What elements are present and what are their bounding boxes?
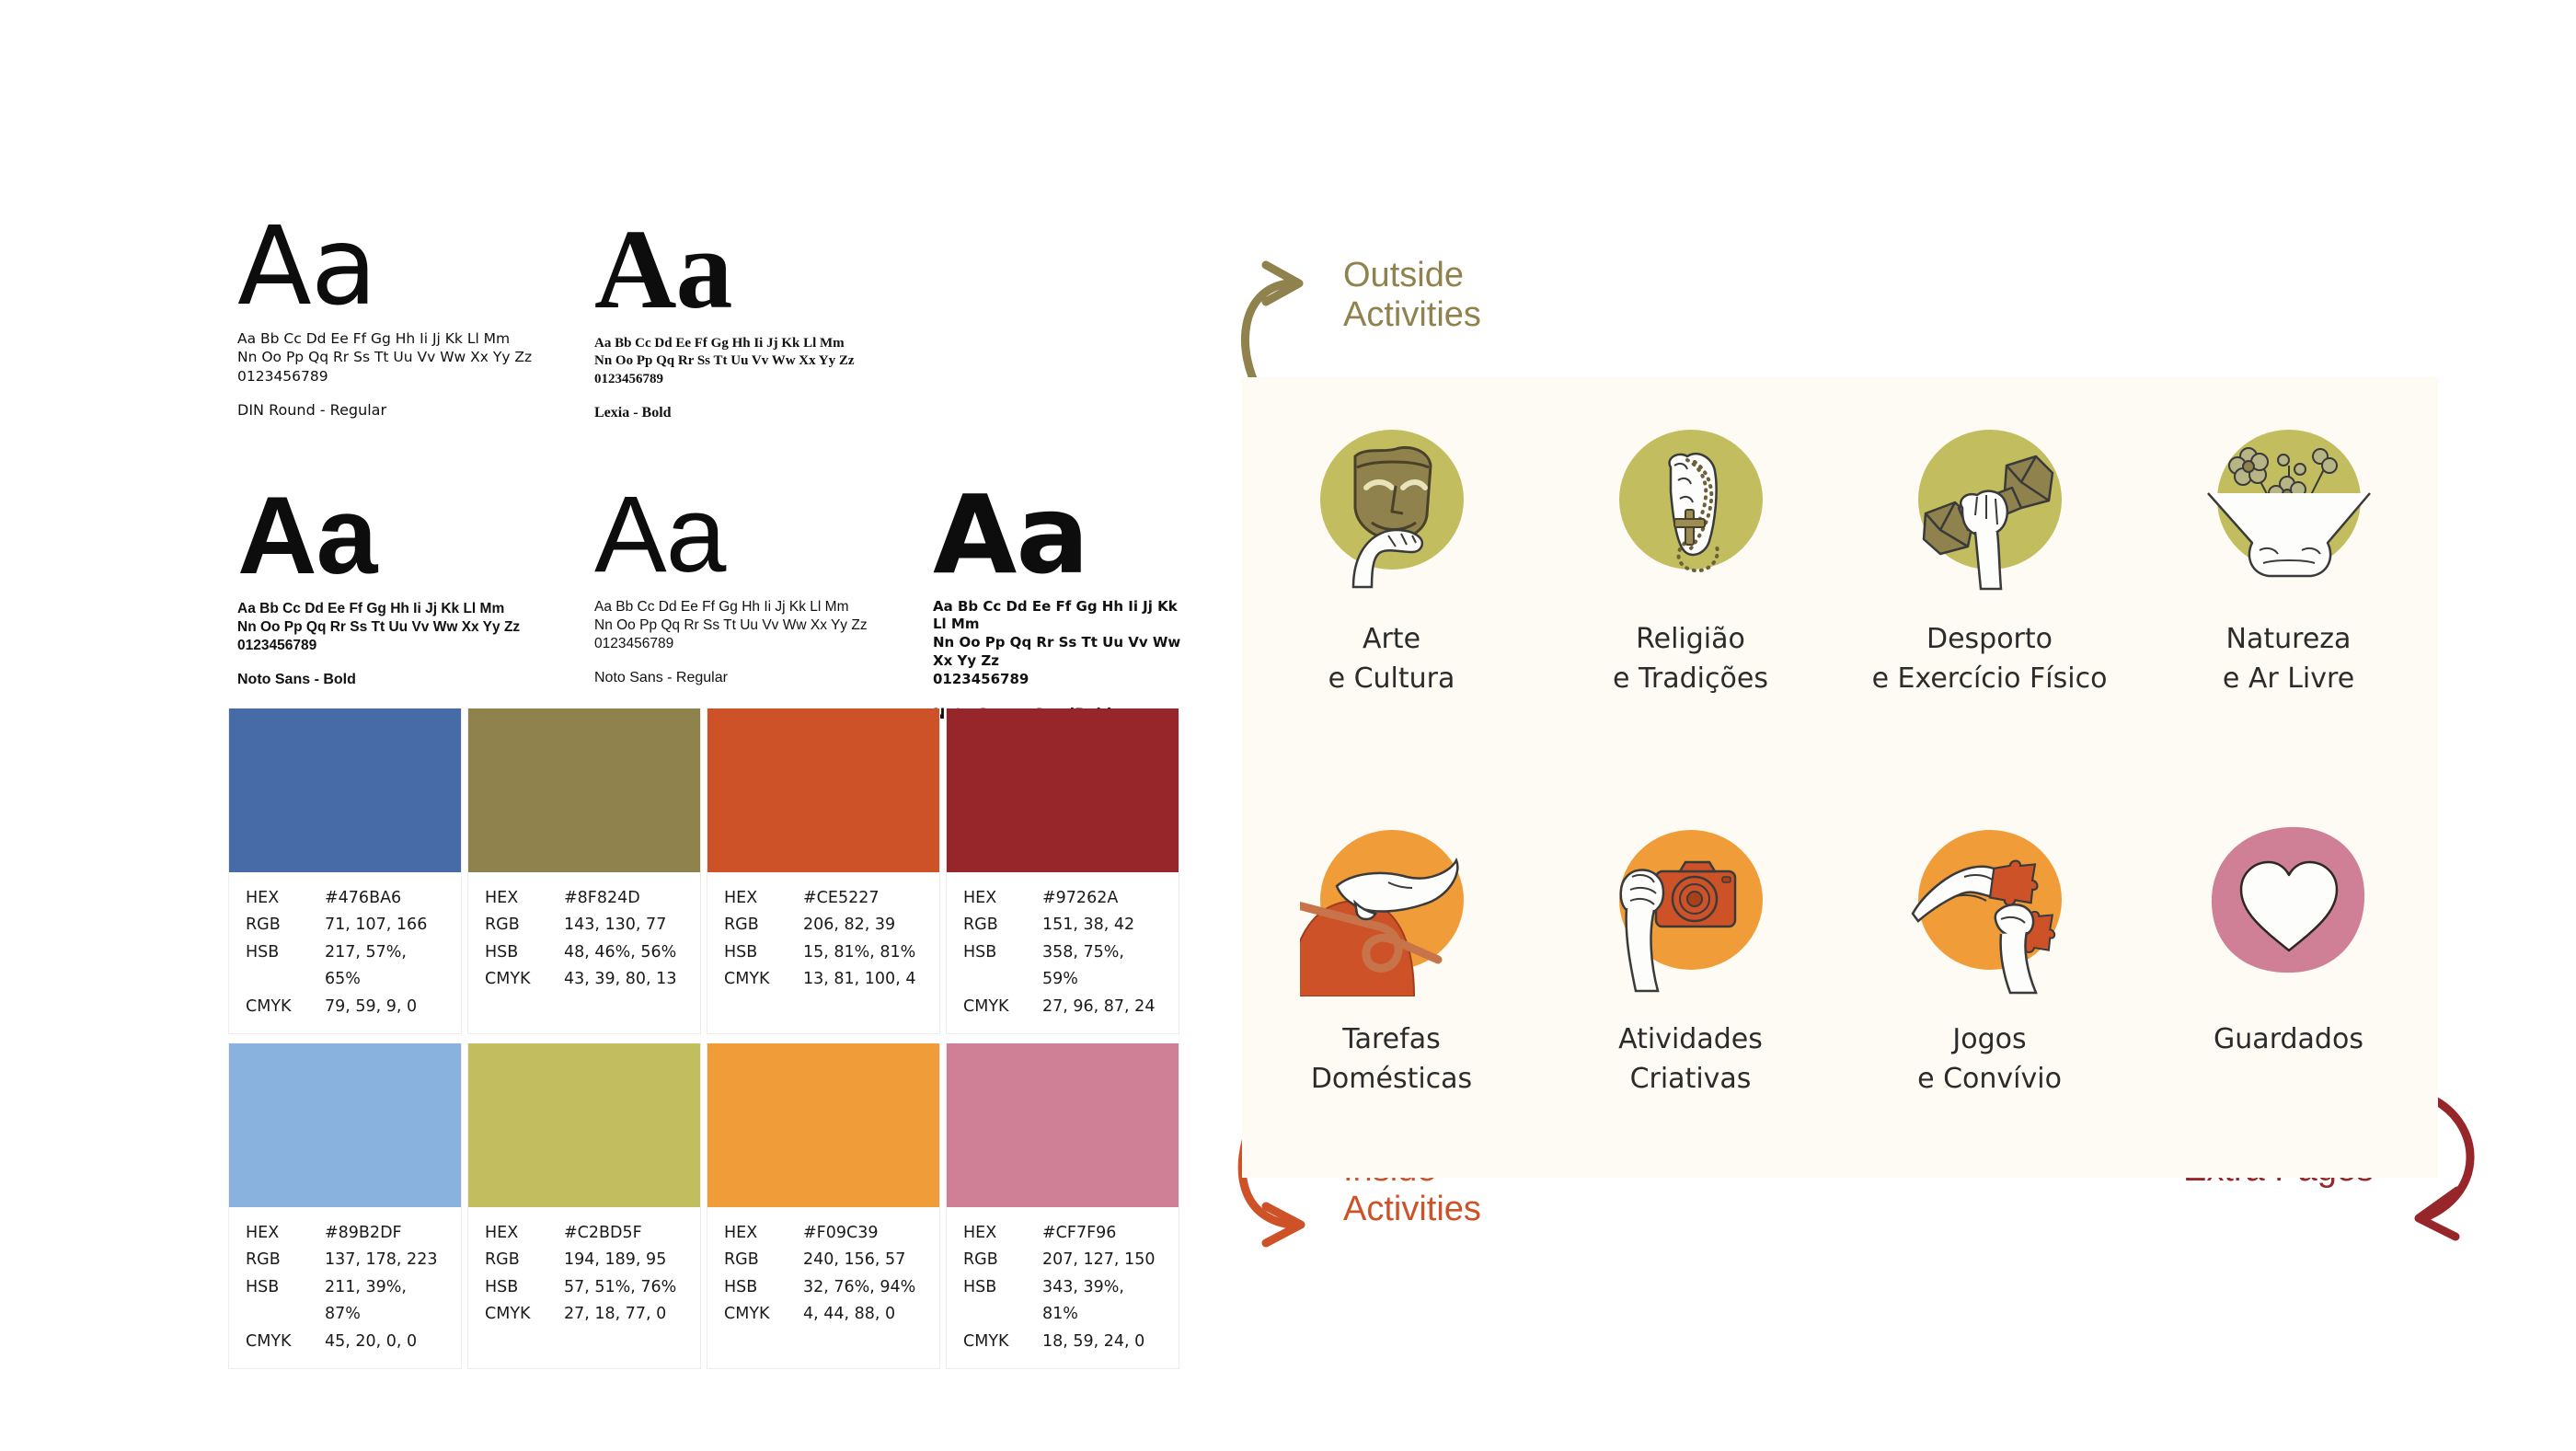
apron-icon <box>1300 812 1484 996</box>
hsb-label: HSB <box>485 1274 564 1301</box>
font-sample-glyphs: Aa <box>237 213 594 320</box>
hex-value: #89B2DF <box>325 1220 444 1247</box>
font-specimen-noto-semibold: Aa Aa Bb Cc Dd Ee Ff Gg Hh Ii Jj Kk Ll M… <box>933 482 1190 722</box>
color-swatch-card: HEX#89B2DF RGB137, 178, 223 HSB211, 39%,… <box>228 1043 462 1369</box>
activity-label: Atividades Criativas <box>1618 1020 1763 1099</box>
color-chip <box>947 708 1179 872</box>
palette-row-2: HEX#89B2DF RGB137, 178, 223 HSB211, 39%,… <box>228 1043 1179 1369</box>
rgb-label: RGB <box>246 1247 325 1273</box>
color-chip <box>947 1043 1179 1207</box>
font-alphabet: Aa Bb Cc Dd Ee Ff Gg Hh Ii Jj Kk Ll Mm N… <box>237 329 594 386</box>
rgb-value: 240, 156, 57 <box>803 1247 923 1273</box>
rgb-value: 137, 178, 223 <box>325 1247 444 1273</box>
hsb-value: 211, 39%, 87% <box>325 1274 444 1329</box>
activity-label: Arte e Cultura <box>1328 620 1455 698</box>
hsb-label: HSB <box>963 939 1042 994</box>
hex-value: #476BA6 <box>325 885 444 912</box>
hex-value: #C2BD5F <box>564 1220 684 1247</box>
hex-value: #F09C39 <box>803 1220 923 1247</box>
cmyk-value: 27, 96, 87, 24 <box>1042 994 1162 1020</box>
rgb-label: RGB <box>485 912 564 939</box>
rgb-label: RGB <box>724 1247 803 1273</box>
cmyk-label: CMYK <box>963 994 1042 1020</box>
hsb-label: HSB <box>724 939 803 966</box>
hsb-value: 217, 57%, 65% <box>325 939 444 994</box>
cmyk-value: 4, 44, 88, 0 <box>803 1301 923 1328</box>
font-sample-glyphs: Aa <box>594 213 933 326</box>
font-specimen-din-round: Aa Aa Bb Cc Dd Ee Ff Gg Hh Ii Jj Kk Ll M… <box>237 213 594 421</box>
activities-grid: Arte e Cultura Religião e Tradições <box>1242 377 2438 1178</box>
activity-label: Desporto e Exercício Físico <box>1872 620 2108 698</box>
font-alphabet: Aa Bb Cc Dd Ee Ff Gg Hh Ii Jj Kk Ll Mm N… <box>594 598 933 654</box>
color-chip <box>707 1043 939 1207</box>
hex-value: #CF7F96 <box>1042 1220 1162 1247</box>
activity-label: Religião e Tradições <box>1613 620 1768 698</box>
dumbbell-icon <box>1898 412 2082 596</box>
rgb-label: RGB <box>963 912 1042 939</box>
typography-row-1: Aa Aa Bb Cc Dd Ee Ff Gg Hh Ii Jj Kk Ll M… <box>237 213 1194 421</box>
hsb-label: HSB <box>724 1274 803 1301</box>
curved-arrow-outside-icon <box>1233 258 1343 396</box>
rgb-value: 207, 127, 150 <box>1042 1247 1162 1273</box>
color-swatch-card: HEX#C2BD5F RGB194, 189, 95 HSB57, 51%, 7… <box>467 1043 701 1369</box>
hex-value: #CE5227 <box>803 885 923 912</box>
color-chip <box>229 708 461 872</box>
hex-label: HEX <box>485 1220 564 1247</box>
cmyk-value: 79, 59, 9, 0 <box>325 994 444 1020</box>
heart-icon <box>2197 812 2381 996</box>
activity-card[interactable]: Tarefas Domésticas <box>1242 777 1541 1099</box>
hsb-label: HSB <box>246 1274 325 1329</box>
typography-row-2: Aa Aa Bb Cc Dd Ee Ff Gg Hh Ii Jj Kk Ll M… <box>237 482 1194 722</box>
activity-card[interactable]: Religião e Tradições <box>1541 377 1840 698</box>
color-swatch-card: HEX#476BA6 RGB71, 107, 166 HSB217, 57%, … <box>228 708 462 1034</box>
activity-card[interactable]: Desporto e Exercício Físico <box>1840 377 2139 698</box>
font-specimen-noto-regular: Aa Aa Bb Cc Dd Ee Ff Gg Hh Ii Jj Kk Ll M… <box>594 482 933 722</box>
hsb-label: HSB <box>963 1274 1042 1329</box>
rgb-label: RGB <box>724 912 803 939</box>
camera-icon <box>1599 812 1783 996</box>
hsb-value: 57, 51%, 76% <box>564 1274 684 1301</box>
hsb-value: 343, 39%, 81% <box>1042 1274 1162 1329</box>
activity-card[interactable]: Jogos e Convívio <box>1840 777 2139 1099</box>
activity-label: Jogos e Convívio <box>1917 1020 2062 1099</box>
heading-outside-activities: Outside Activities <box>1343 256 1481 335</box>
typography-section: Aa Aa Bb Cc Dd Ee Ff Gg Hh Ii Jj Kk Ll M… <box>237 213 1194 722</box>
hsb-label: HSB <box>246 939 325 994</box>
palette-row-1: HEX#476BA6 RGB71, 107, 166 HSB217, 57%, … <box>228 708 1179 1034</box>
font-specimen-noto-bold: Aa Aa Bb Cc Dd Ee Ff Gg Hh Ii Jj Kk Ll M… <box>237 482 594 722</box>
cmyk-value: 18, 59, 24, 0 <box>1042 1329 1162 1355</box>
activity-label: Natureza e Ar Livre <box>2223 620 2354 698</box>
font-name: Noto Sans - Bold <box>237 672 594 688</box>
hex-label: HEX <box>485 885 564 912</box>
rgb-label: RGB <box>246 912 325 939</box>
hsb-value: 48, 46%, 56% <box>564 939 684 966</box>
flowers-icon <box>2197 412 2381 596</box>
theatre-mask-icon <box>1300 412 1484 596</box>
rgb-value: 206, 82, 39 <box>803 912 923 939</box>
rgb-value: 194, 189, 95 <box>564 1247 684 1273</box>
color-swatch-card: HEX#8F824D RGB143, 130, 77 HSB48, 46%, 5… <box>467 708 701 1034</box>
hex-value: #97262A <box>1042 885 1162 912</box>
color-swatch-card: HEX#CE5227 RGB206, 82, 39 HSB15, 81%, 81… <box>707 708 940 1034</box>
font-alphabet: Aa Bb Cc Dd Ee Ff Gg Hh Ii Jj Kk Ll Mm N… <box>933 598 1190 689</box>
hsb-value: 15, 81%, 81% <box>803 939 923 966</box>
font-name: Noto Sans - Regular <box>594 670 933 686</box>
hsb-value: 358, 75%, 59% <box>1042 939 1162 994</box>
hex-label: HEX <box>246 1220 325 1247</box>
font-specimen-lexia: Aa Aa Bb Cc Dd Ee Ff Gg Hh Ii Jj Kk Ll M… <box>594 213 933 421</box>
font-sample-glyphs: Aa <box>594 482 933 589</box>
hsb-label: HSB <box>485 939 564 966</box>
color-swatch-card: HEX#97262A RGB151, 38, 42 HSB358, 75%, 5… <box>946 708 1179 1034</box>
color-chip <box>707 708 939 872</box>
color-palette-section: HEX#476BA6 RGB71, 107, 166 HSB217, 57%, … <box>228 708 1179 1369</box>
rgb-value: 151, 38, 42 <box>1042 912 1162 939</box>
cmyk-value: 45, 20, 0, 0 <box>325 1329 444 1355</box>
cmyk-label: CMYK <box>963 1329 1042 1355</box>
cmyk-label: CMYK <box>724 966 803 993</box>
hex-label: HEX <box>963 1220 1042 1247</box>
cmyk-value: 43, 39, 80, 13 <box>564 966 684 993</box>
activity-card[interactable]: Arte e Cultura <box>1242 377 1541 698</box>
rgb-value: 143, 130, 77 <box>564 912 684 939</box>
hex-label: HEX <box>246 885 325 912</box>
color-chip <box>468 1043 700 1207</box>
activity-label: Tarefas Domésticas <box>1311 1020 1472 1099</box>
font-name: Lexia - Bold <box>594 405 933 421</box>
font-alphabet: Aa Bb Cc Dd Ee Ff Gg Hh Ii Jj Kk Ll Mm N… <box>594 335 933 389</box>
rosary-icon <box>1599 412 1783 596</box>
cmyk-label: CMYK <box>724 1301 803 1328</box>
font-name: DIN Round - Regular <box>237 401 594 419</box>
color-swatch-card: HEX#F09C39 RGB240, 156, 57 HSB32, 76%, 9… <box>707 1043 940 1369</box>
rgb-label: RGB <box>963 1247 1042 1273</box>
font-alphabet: Aa Bb Cc Dd Ee Ff Gg Hh Ii Jj Kk Ll Mm N… <box>237 600 594 656</box>
color-chip <box>468 708 700 872</box>
activity-card[interactable]: Guardados <box>2139 777 2438 1060</box>
hex-label: HEX <box>724 1220 803 1247</box>
puzzle-icon <box>1898 812 2082 996</box>
hex-label: HEX <box>724 885 803 912</box>
activities-panel: Arte e Cultura Religião e Tradições <box>1242 377 2438 1178</box>
cmyk-label: CMYK <box>246 1329 325 1355</box>
cmyk-value: 27, 18, 77, 0 <box>564 1301 684 1328</box>
rgb-label: RGB <box>485 1247 564 1273</box>
cmyk-label: CMYK <box>246 994 325 1020</box>
activity-label: Guardados <box>2214 1020 2363 1060</box>
activity-card[interactable]: Atividades Criativas <box>1541 777 1840 1099</box>
font-sample-glyphs: Aa <box>237 482 594 591</box>
cmyk-value: 13, 81, 100, 4 <box>803 966 923 993</box>
hex-value: #8F824D <box>564 885 684 912</box>
hex-label: HEX <box>963 885 1042 912</box>
rgb-value: 71, 107, 166 <box>325 912 444 939</box>
cmyk-label: CMYK <box>485 1301 564 1328</box>
hsb-value: 32, 76%, 94% <box>803 1274 923 1301</box>
color-chip <box>229 1043 461 1207</box>
activity-card[interactable]: Natureza e Ar Livre <box>2139 377 2438 698</box>
color-swatch-card: HEX#CF7F96 RGB207, 127, 150 HSB343, 39%,… <box>946 1043 1179 1369</box>
cmyk-label: CMYK <box>485 966 564 993</box>
font-sample-glyphs: Aa <box>933 482 1190 589</box>
style-guide-page: Aa Aa Bb Cc Dd Ee Ff Gg Hh Ii Jj Kk Ll M… <box>0 0 2576 1451</box>
